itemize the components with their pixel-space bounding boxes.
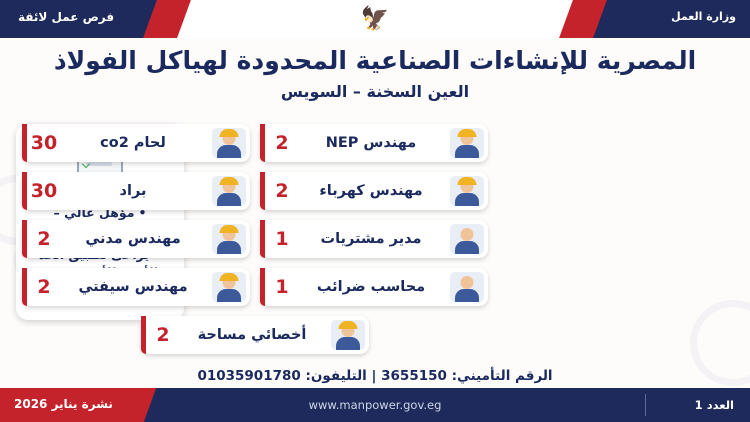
contact-info: الرقم التأميني: 3655150 | التليفون: 0103…	[0, 368, 750, 384]
pill-accent	[22, 268, 27, 306]
job-count: 30	[30, 132, 58, 154]
issue-number: العدد 1	[695, 398, 734, 412]
job-title: مهندس كهرباء	[296, 183, 446, 199]
pill-accent	[260, 268, 265, 306]
pill-accent	[260, 220, 265, 258]
job-count: 2	[268, 180, 296, 202]
job-count: 2	[268, 132, 296, 154]
pill-accent	[141, 316, 146, 354]
pill-accent	[260, 124, 265, 162]
eagle-emblem-icon: 🦅	[359, 3, 391, 35]
pill-accent	[260, 172, 265, 210]
job-pill[interactable]: لحام co2 30	[22, 124, 250, 162]
page-subtitle: العين السخنة – السويس	[0, 82, 750, 101]
manager-avatar-icon	[450, 224, 484, 254]
job-count: 1	[268, 276, 296, 298]
decent-work-label: فرص عمل لائقة	[18, 10, 114, 24]
electrical-engineer-avatar-icon	[450, 176, 484, 206]
job-count: 2	[149, 324, 177, 346]
safety-engineer-avatar-icon	[212, 272, 246, 302]
job-title: لحام co2	[58, 135, 208, 151]
job-pill[interactable]: محاسب ضرائب 1	[260, 268, 488, 306]
job-title: مهندس سيفتي	[58, 279, 208, 295]
job-count: 1	[268, 228, 296, 250]
poster-page: 🦅 وزارة العمل فرص عمل لائقة المصرية للإن…	[0, 0, 750, 422]
job-pill[interactable]: مهندس NEP 2	[260, 124, 488, 162]
job-pill[interactable]: مهندس مدني 2	[22, 220, 250, 258]
job-count: 2	[30, 228, 58, 250]
accountant-avatar-icon	[450, 272, 484, 302]
job-title: مهندس NEP	[296, 135, 446, 151]
welder-avatar-icon	[212, 128, 246, 158]
top-bar: 🦅 وزارة العمل فرص عمل لائقة	[0, 0, 750, 38]
ministry-label: وزارة العمل	[671, 10, 736, 23]
job-pill[interactable]: مدير مشتريات 1	[260, 220, 488, 258]
job-pill[interactable]: براد 30	[22, 172, 250, 210]
pill-accent	[22, 220, 27, 258]
job-count: 2	[30, 276, 58, 298]
job-pill[interactable]: أخصائي مساحة 2	[141, 316, 369, 354]
pill-accent	[22, 172, 27, 210]
engineer-female-avatar-icon	[450, 128, 484, 158]
page-title: المصرية للإنشاءات الصناعية المحدودة لهيا…	[0, 46, 750, 75]
job-title: مدير مشتريات	[296, 231, 446, 247]
job-title: مهندس مدني	[58, 231, 208, 247]
surveyor-avatar-icon	[331, 320, 365, 350]
job-title: محاسب ضرائب	[296, 279, 446, 295]
bulletin-date: نشرة يناير 2026	[14, 397, 113, 411]
bottom-bar: نشرة يناير 2026 www.manpower.gov.eg العد…	[0, 388, 750, 422]
engineer-avatar-icon	[212, 224, 246, 254]
job-title: براد	[58, 183, 208, 199]
job-count: 30	[30, 180, 58, 202]
pill-accent	[22, 124, 27, 162]
job-title: أخصائي مساحة	[177, 327, 327, 343]
job-pill[interactable]: مهندس كهرباء 2	[260, 172, 488, 210]
job-pill[interactable]: مهندس سيفتي 2	[22, 268, 250, 306]
divider	[645, 394, 646, 416]
grinder-avatar-icon	[212, 176, 246, 206]
